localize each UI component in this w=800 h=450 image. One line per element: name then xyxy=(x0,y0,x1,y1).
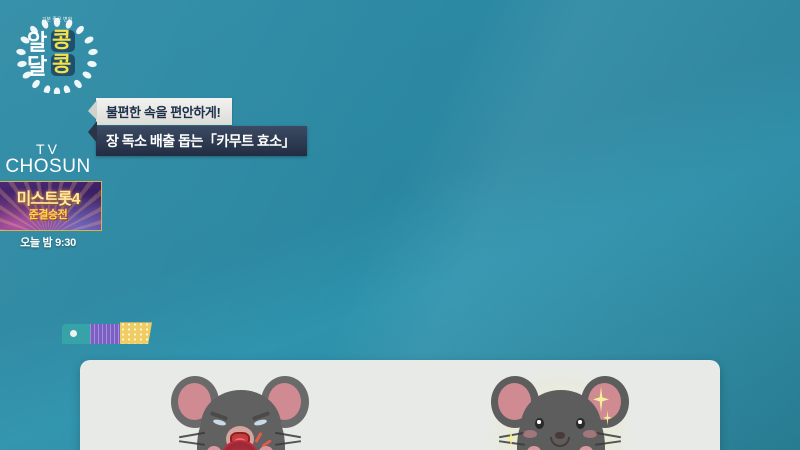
promo-title: 미스트롯4 xyxy=(17,192,80,208)
logo-char-3: 달 xyxy=(27,56,46,78)
happy-mouse-icon xyxy=(475,364,645,450)
program-logo: 기분 좋은 변화 알 콩 달 콩 xyxy=(14,18,100,94)
logo-char-4: 콩 xyxy=(52,54,70,75)
mouse-hand-right xyxy=(259,446,273,450)
channel-prefix: TV xyxy=(0,142,108,157)
mouse-hand-left xyxy=(207,446,221,450)
comparison-group-left: 일반식이섬유 섭취 xyxy=(80,364,400,450)
logo-char-1: 알 xyxy=(27,32,46,54)
decoration-dot xyxy=(70,330,77,337)
program-promo-card: 미스트롯4 준결승전 xyxy=(0,181,102,231)
notch-upper xyxy=(88,100,97,120)
broadcast-screen: 기분 좋은 변화 알 콩 달 콩 불편한 속을 편안하게! 장 독소 배출 돕는… xyxy=(0,0,800,450)
notch-lower xyxy=(88,121,97,143)
content-panel: 일반식이섬유 섭취 xyxy=(80,360,720,450)
decoration-purple-block xyxy=(90,324,120,344)
logo-wordmark: 알 콩 달 콩 xyxy=(26,30,88,82)
logo-tagline: 기분 좋은 변화 xyxy=(42,16,72,23)
channel-branding: TV CHOSUN 미스트롯4 준결승전 오늘 밤 9:30 xyxy=(0,142,108,250)
logo-char-2: 콩 xyxy=(52,30,70,51)
comparison-illustrations: 일반식이섬유 섭취 xyxy=(80,364,720,450)
decoration-teal-block xyxy=(62,324,90,344)
title-headline: 불편한 속을 편안하게! xyxy=(96,98,232,125)
mouse-hand-right xyxy=(579,446,593,450)
promo-subtitle: 준결승전 xyxy=(29,210,67,221)
mouse-hand-left xyxy=(527,446,541,450)
sad-mouse-icon xyxy=(155,364,325,450)
comparison-group-right: 카무트 효소식 섭취 xyxy=(400,364,720,450)
program-title-block: 불편한 속을 편안하게! 장 독소 배출 돕는「카무트 효소」 xyxy=(96,98,800,156)
panel-corner-decoration xyxy=(62,322,154,344)
decoration-yellow-block xyxy=(120,322,152,344)
promo-airtime: 오늘 밤 9:30 xyxy=(0,234,108,250)
channel-name: CHOSUN xyxy=(0,157,108,177)
title-subheadline: 장 독소 배출 돕는「카무트 효소」 xyxy=(96,126,307,156)
